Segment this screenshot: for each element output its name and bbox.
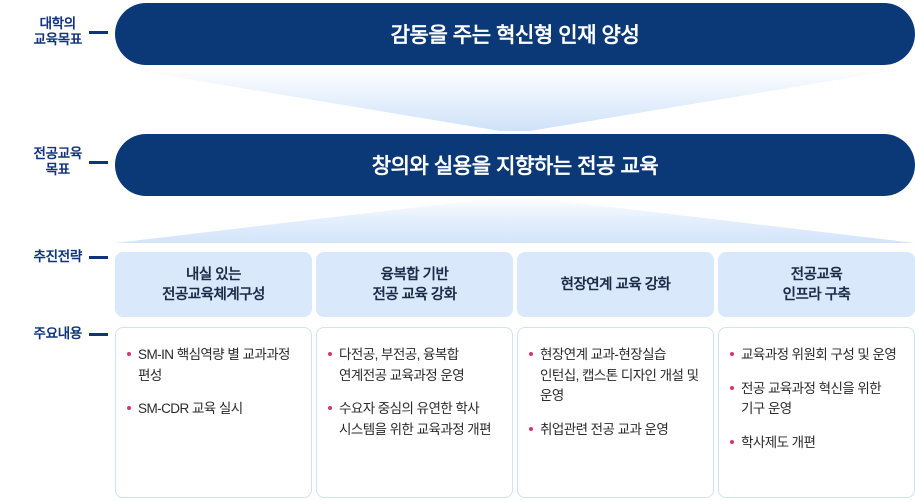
dash-icon (89, 333, 108, 336)
strategy-column-body: SM-IN 핵심역량 별 교과과정 편성SM-CDR 교육 실시 (115, 327, 312, 498)
list-item: SM-CDR 교육 실시 (127, 399, 302, 420)
dash-icon (89, 161, 108, 164)
list-item: 수요자 중심의 유연한 학사 시스템을 위한 교육과정 개편 (328, 399, 503, 440)
dash-icon (89, 31, 108, 34)
strategy-column-header: 전공교육인프라 구축 (718, 252, 915, 317)
list-item: SM-IN 핵심역량 별 교과과정 편성 (127, 345, 302, 386)
university-goal-bar-text: 감동을 주는 혁신형 인재 양성 (391, 19, 640, 49)
education-goal-diagram: 대학의교육목표 감동을 주는 혁신형 인재 양성 전공교육목표 창의와 실용을 … (0, 0, 915, 500)
major-goal-bar: 창의와 실용을 지향하는 전공 교육 (115, 134, 915, 196)
strategy-column-body: 현장연계 교과-현장실습 인턴십, 캡스톤 디자인 개설 및 운영취업관련 전공… (517, 327, 714, 498)
bullet-list: SM-IN 핵심역량 별 교과과정 편성SM-CDR 교육 실시 (127, 345, 302, 420)
list-item: 다전공, 부전공, 융복합 연계전공 교육과정 운영 (328, 345, 503, 386)
funnel-connector-up (115, 196, 915, 245)
strategy-column-body: 다전공, 부전공, 융복합 연계전공 교육과정 운영수요자 중심의 유연한 학사… (316, 327, 513, 498)
list-item: 전공 교육과정 혁신을 위한 기구 운영 (730, 379, 905, 420)
list-item: 현장연계 교과-현장실습 인턴십, 캡스톤 디자인 개설 및 운영 (529, 345, 704, 407)
list-item: 취업관련 전공 교과 운영 (529, 420, 704, 441)
row-label-main-content: 주요내용 (0, 322, 108, 346)
list-item: 학사제도 개편 (730, 433, 905, 454)
funnel-connector-down (115, 65, 915, 133)
strategy-column: 내실 있는전공교육체계구성SM-IN 핵심역량 별 교과과정 편성SM-CDR … (115, 252, 312, 498)
dash-icon (89, 256, 108, 259)
bullet-list: 교육과정 위원회 구성 및 운영전공 교육과정 혁신을 위한 기구 운영학사제도… (730, 345, 905, 453)
row-label-strategy: 추진전략 (0, 245, 108, 269)
row-label-major-goal: 전공교육목표 (0, 138, 108, 186)
strategy-column-header: 내실 있는전공교육체계구성 (115, 252, 312, 317)
strategy-column-header: 현장연계 교육 강화 (517, 252, 714, 317)
major-goal-bar-text: 창의와 실용을 지향하는 전공 교육 (372, 150, 659, 180)
row-label-university-goal-text: 대학의교육목표 (34, 16, 82, 49)
bullet-list: 다전공, 부전공, 융복합 연계전공 교육과정 운영수요자 중심의 유연한 학사… (328, 345, 503, 440)
strategy-columns: 내실 있는전공교육체계구성SM-IN 핵심역량 별 교과과정 편성SM-CDR … (115, 252, 915, 498)
row-label-university-goal: 대학의교육목표 (0, 8, 108, 56)
strategy-column: 융복합 기반전공 교육 강화다전공, 부전공, 융복합 연계전공 교육과정 운영… (316, 252, 513, 498)
list-item: 교육과정 위원회 구성 및 운영 (730, 345, 905, 366)
strategy-column-header: 융복합 기반전공 교육 강화 (316, 252, 513, 317)
row-label-major-goal-text: 전공교육목표 (34, 146, 82, 179)
row-label-main-content-text: 주요내용 (34, 326, 82, 342)
bullet-list: 현장연계 교과-현장실습 인턴십, 캡스톤 디자인 개설 및 운영취업관련 전공… (529, 345, 704, 440)
row-label-strategy-text: 추진전략 (34, 249, 82, 265)
strategy-column-body: 교육과정 위원회 구성 및 운영전공 교육과정 혁신을 위한 기구 운영학사제도… (718, 327, 915, 498)
university-goal-bar: 감동을 주는 혁신형 인재 양성 (115, 3, 915, 65)
strategy-column: 전공교육인프라 구축교육과정 위원회 구성 및 운영전공 교육과정 혁신을 위한… (718, 252, 915, 498)
strategy-column: 현장연계 교육 강화현장연계 교과-현장실습 인턴십, 캡스톤 디자인 개설 및… (517, 252, 714, 498)
